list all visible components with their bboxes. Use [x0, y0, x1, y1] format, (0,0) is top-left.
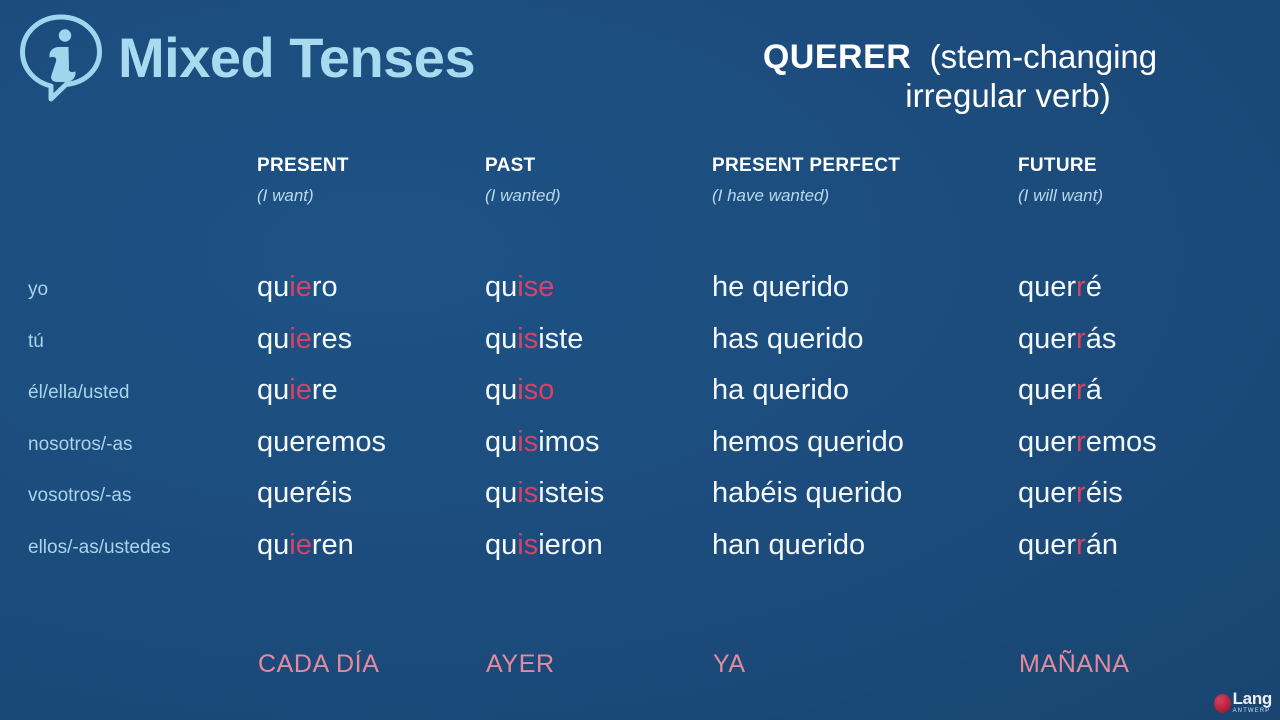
- conjugation-present-perfect: han querido: [712, 531, 865, 560]
- pronoun-label: vosotros/-as: [28, 486, 131, 505]
- conjugation-present: quieres: [257, 325, 352, 354]
- column-header-past: PAST(I wanted): [485, 155, 561, 206]
- column-header-subtitle: (I will want): [1018, 186, 1103, 206]
- conjugation-past: quisieron: [485, 531, 603, 560]
- conjugation-future: querrá: [1018, 376, 1102, 405]
- verb-text: iste: [538, 323, 583, 355]
- time-marker: YA: [713, 650, 746, 679]
- verb-text: ieron: [538, 529, 603, 561]
- slide-root: Mixed Tenses QUERER (stem-changing irreg…: [0, 0, 1280, 720]
- table-row: túquieresquisistehas queridoquerrás: [0, 325, 1280, 377]
- highlighted-stem: is: [517, 477, 538, 509]
- verb-name: QUERER: [763, 38, 911, 76]
- time-marker: CADA DÍA: [258, 650, 380, 679]
- verb-text: qu: [485, 529, 517, 561]
- highlighted-stem: is: [517, 426, 538, 458]
- globe-icon: [1214, 694, 1231, 713]
- brand-block: Mixed Tenses: [18, 12, 475, 104]
- time-marker-row: CADA DÍAAYERYAMAÑANA: [0, 650, 1280, 690]
- conjugation-past: quisimos: [485, 428, 599, 457]
- conjugation-future: querremos: [1018, 428, 1157, 457]
- table-rows: yoquieroquisehe queridoquerrétúquieresqu…: [0, 273, 1280, 582]
- highlighted-stem: ie: [289, 529, 312, 561]
- highlighted-stem: ie: [289, 271, 312, 303]
- verb-text: han querido: [712, 529, 865, 561]
- verb-text: hemos querido: [712, 426, 904, 458]
- conjugation-future: querrás: [1018, 325, 1116, 354]
- conjugation-present: quieren: [257, 531, 354, 560]
- table-row: ellos/-as/ustedesquierenquisieronhan que…: [0, 531, 1280, 583]
- page-title: Mixed Tenses: [118, 30, 475, 86]
- column-header-title: PRESENT PERFECT: [712, 155, 900, 177]
- time-marker: AYER: [486, 650, 555, 679]
- column-header-title: PAST: [485, 155, 561, 177]
- verb-text: he querido: [712, 271, 849, 303]
- highlighted-stem: ie: [289, 323, 312, 355]
- conjugation-past: quisisteis: [485, 479, 604, 508]
- pronoun-label: nosotros/-as: [28, 435, 133, 454]
- verb-text: ro: [312, 271, 338, 303]
- verb-text: quer: [1018, 477, 1076, 509]
- verb-text: ás: [1086, 323, 1117, 355]
- verb-heading: QUERER (stem-changing irregular verb): [660, 38, 1260, 116]
- verb-text: qu: [485, 426, 517, 458]
- watermark-main: Lang: [1233, 690, 1272, 707]
- verb-text: quer: [1018, 426, 1076, 458]
- pronoun-label: ellos/-as/ustedes: [28, 538, 171, 557]
- verb-note-line1: (stem-changing: [930, 38, 1157, 75]
- verb-text: á: [1086, 374, 1102, 406]
- column-header-subtitle: (I wanted): [485, 186, 561, 206]
- conjugation-present-perfect: habéis querido: [712, 479, 902, 508]
- verb-text: án: [1086, 529, 1118, 561]
- watermark-text: Lang ANTWERP: [1233, 690, 1272, 714]
- highlighted-stem: r: [1076, 271, 1086, 303]
- highlighted-stem: ise: [517, 271, 554, 303]
- conjugation-past: quise: [485, 273, 554, 302]
- verb-text: quer: [1018, 374, 1076, 406]
- highlighted-stem: r: [1076, 477, 1086, 509]
- conjugation-present-perfect: he querido: [712, 273, 849, 302]
- verb-text: quer: [1018, 323, 1076, 355]
- watermark-logo: Lang ANTWERP: [1214, 690, 1272, 714]
- highlighted-stem: ie: [289, 374, 312, 406]
- verb-text: habéis querido: [712, 477, 902, 509]
- verb-text: é: [1086, 271, 1102, 303]
- verb-text: ren: [312, 529, 354, 561]
- conjugation-table: PRESENT(I want)PAST(I wanted)PRESENT PER…: [0, 155, 1280, 582]
- verb-text: emos: [1086, 426, 1157, 458]
- verb-text: qu: [485, 374, 517, 406]
- conjugation-future: querrán: [1018, 531, 1118, 560]
- verb-text: ha querido: [712, 374, 849, 406]
- verb-text: re: [312, 374, 338, 406]
- verb-text: quer: [1018, 529, 1076, 561]
- verb-text: isteis: [538, 477, 604, 509]
- verb-text: qu: [485, 477, 517, 509]
- slide-header: Mixed Tenses QUERER (stem-changing irreg…: [0, 0, 1280, 140]
- time-marker: MAÑANA: [1019, 650, 1130, 679]
- conjugation-present-perfect: has querido: [712, 325, 864, 354]
- table-row: yoquieroquisehe queridoquerré: [0, 273, 1280, 325]
- table-column-headers: PRESENT(I want)PAST(I wanted)PRESENT PER…: [0, 155, 1280, 233]
- conjugation-present: queréis: [257, 479, 352, 508]
- pronoun-label: tú: [28, 332, 44, 351]
- verb-note-line2: irregular verb): [660, 77, 1260, 115]
- verb-text: qu: [485, 323, 517, 355]
- verb-text: qu: [257, 271, 289, 303]
- verb-text: queremos: [257, 426, 386, 458]
- verb-text: has querido: [712, 323, 864, 355]
- verb-text: qu: [257, 323, 289, 355]
- verb-text: quer: [1018, 271, 1076, 303]
- watermark-sub: ANTWERP: [1233, 708, 1272, 714]
- highlighted-stem: is: [517, 529, 538, 561]
- conjugation-present: queremos: [257, 428, 386, 457]
- verb-text: queréis: [257, 477, 352, 509]
- pronoun-label: yo: [28, 280, 48, 299]
- column-header-future: FUTURE(I will want): [1018, 155, 1103, 206]
- pronoun-label: él/ella/usted: [28, 383, 129, 402]
- conjugation-past: quiso: [485, 376, 554, 405]
- conjugation-future: querré: [1018, 273, 1102, 302]
- info-speech-bubble-icon: [18, 12, 104, 104]
- highlighted-stem: iso: [517, 374, 554, 406]
- verb-text: qu: [257, 374, 289, 406]
- conjugation-present: quiere: [257, 376, 338, 405]
- highlighted-stem: r: [1076, 374, 1086, 406]
- column-header-present-perfect: PRESENT PERFECT(I have wanted): [712, 155, 900, 206]
- verb-text: qu: [485, 271, 517, 303]
- conjugation-present-perfect: ha querido: [712, 376, 849, 405]
- highlighted-stem: r: [1076, 323, 1086, 355]
- highlighted-stem: is: [517, 323, 538, 355]
- column-header-title: PRESENT: [257, 155, 349, 177]
- column-header-title: FUTURE: [1018, 155, 1103, 177]
- conjugation-present-perfect: hemos querido: [712, 428, 904, 457]
- highlighted-stem: r: [1076, 426, 1086, 458]
- verb-text: res: [312, 323, 352, 355]
- verb-text: imos: [538, 426, 599, 458]
- conjugation-future: querréis: [1018, 479, 1123, 508]
- table-row: él/ella/ustedquierequisoha queridoquerrá: [0, 376, 1280, 428]
- column-header-subtitle: (I want): [257, 186, 349, 206]
- table-row: vosotros/-asqueréisquisisteishabéis quer…: [0, 479, 1280, 531]
- table-row: nosotros/-asqueremosquisimoshemos querid…: [0, 428, 1280, 480]
- conjugation-present: quiero: [257, 273, 338, 302]
- conjugation-past: quisiste: [485, 325, 583, 354]
- column-header-subtitle: (I have wanted): [712, 186, 900, 206]
- highlighted-stem: r: [1076, 529, 1086, 561]
- verb-text: qu: [257, 529, 289, 561]
- verb-text: éis: [1086, 477, 1123, 509]
- column-header-present: PRESENT(I want): [257, 155, 349, 206]
